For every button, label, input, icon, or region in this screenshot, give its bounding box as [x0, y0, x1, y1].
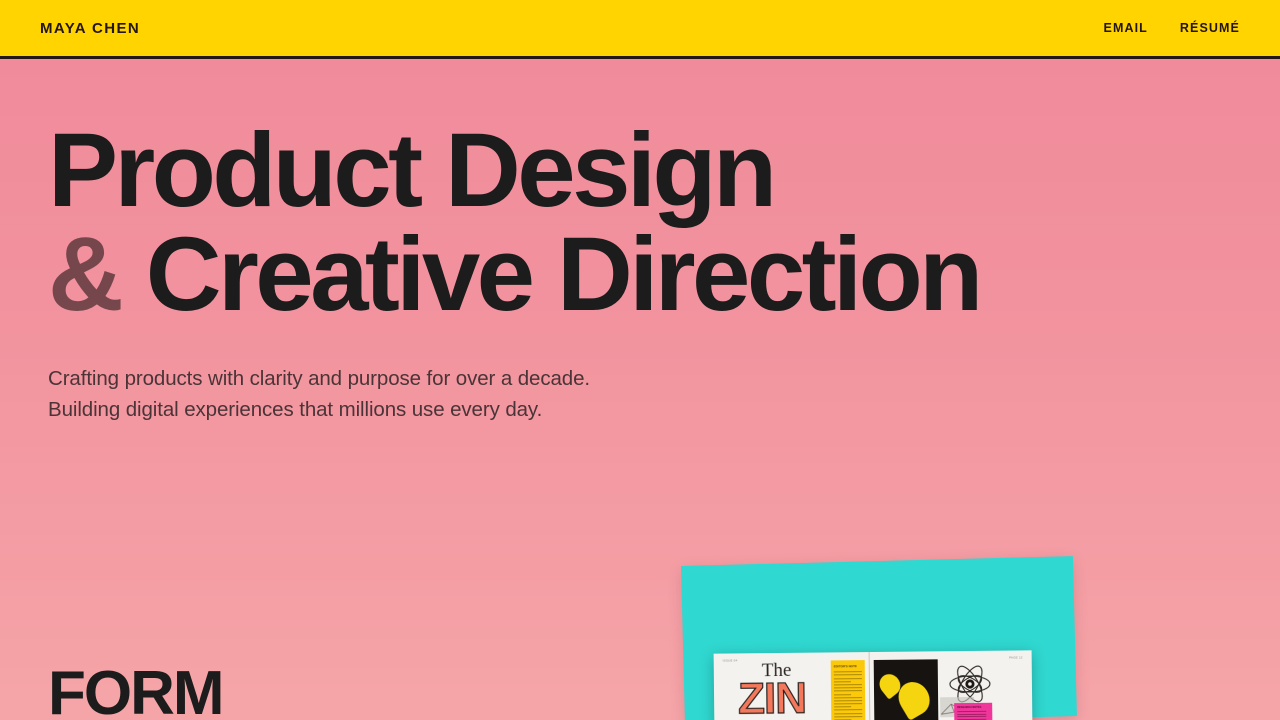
magazine-left-page: ISSUE 04 The ZIN EDITOR'S NOTE [714, 652, 871, 720]
subtitle-line-2: Building digital experiences that millio… [48, 398, 542, 421]
nav-link-email[interactable]: EMAIL [1104, 21, 1148, 35]
hero-subtitle: Crafting products with clarity and purpo… [48, 363, 1280, 427]
left-page-kicker: ISSUE 04 [723, 658, 738, 662]
headline-line-2-rest: Creative Direction [120, 216, 979, 333]
page-title: Product Design & Creative Direction [48, 121, 1280, 325]
left-page-yellow-sidebar: EDITOR'S NOTE [831, 660, 866, 720]
zine-title-zin: ZIN [738, 677, 806, 720]
subtitle-line-1: Crafting products with clarity and purpo… [48, 367, 590, 390]
open-magazine: ISSUE 04 The ZIN EDITOR'S NOTE PAGE 12 [714, 650, 1033, 720]
site-header: MAYA CHEN EMAIL RÉSUMÉ [0, 0, 1280, 59]
yellow-sidebar-heading: EDITOR'S NOTE [834, 664, 862, 668]
headline-ampersand: & [48, 216, 120, 333]
nav-link-resume[interactable]: RÉSUMÉ [1180, 21, 1240, 35]
headline-line-2: & Creative Direction [48, 225, 1280, 325]
hero-section: Product Design & Creative Direction Craf… [0, 59, 1280, 426]
pink-sticky-note: RESEARCH NOTES [954, 703, 992, 720]
magazine-spine-left [714, 656, 715, 720]
sticky-note-heading: RESEARCH NOTES [957, 706, 989, 710]
right-page-black-panel [874, 659, 939, 720]
primary-nav: EMAIL RÉSUMÉ [1104, 21, 1240, 35]
yellow-sidebar-textlines [834, 671, 863, 720]
showcase-image: ISSUE 04 The ZIN EDITOR'S NOTE PAGE 12 [676, 560, 1076, 720]
section-heading-form: FORM [48, 663, 223, 720]
magazine-right-page: PAGE 12 [870, 650, 1033, 720]
right-page-folio: PAGE 12 [1009, 655, 1023, 659]
headline-line-1: Product Design [48, 112, 774, 229]
brand-logo[interactable]: MAYA CHEN [40, 20, 140, 37]
